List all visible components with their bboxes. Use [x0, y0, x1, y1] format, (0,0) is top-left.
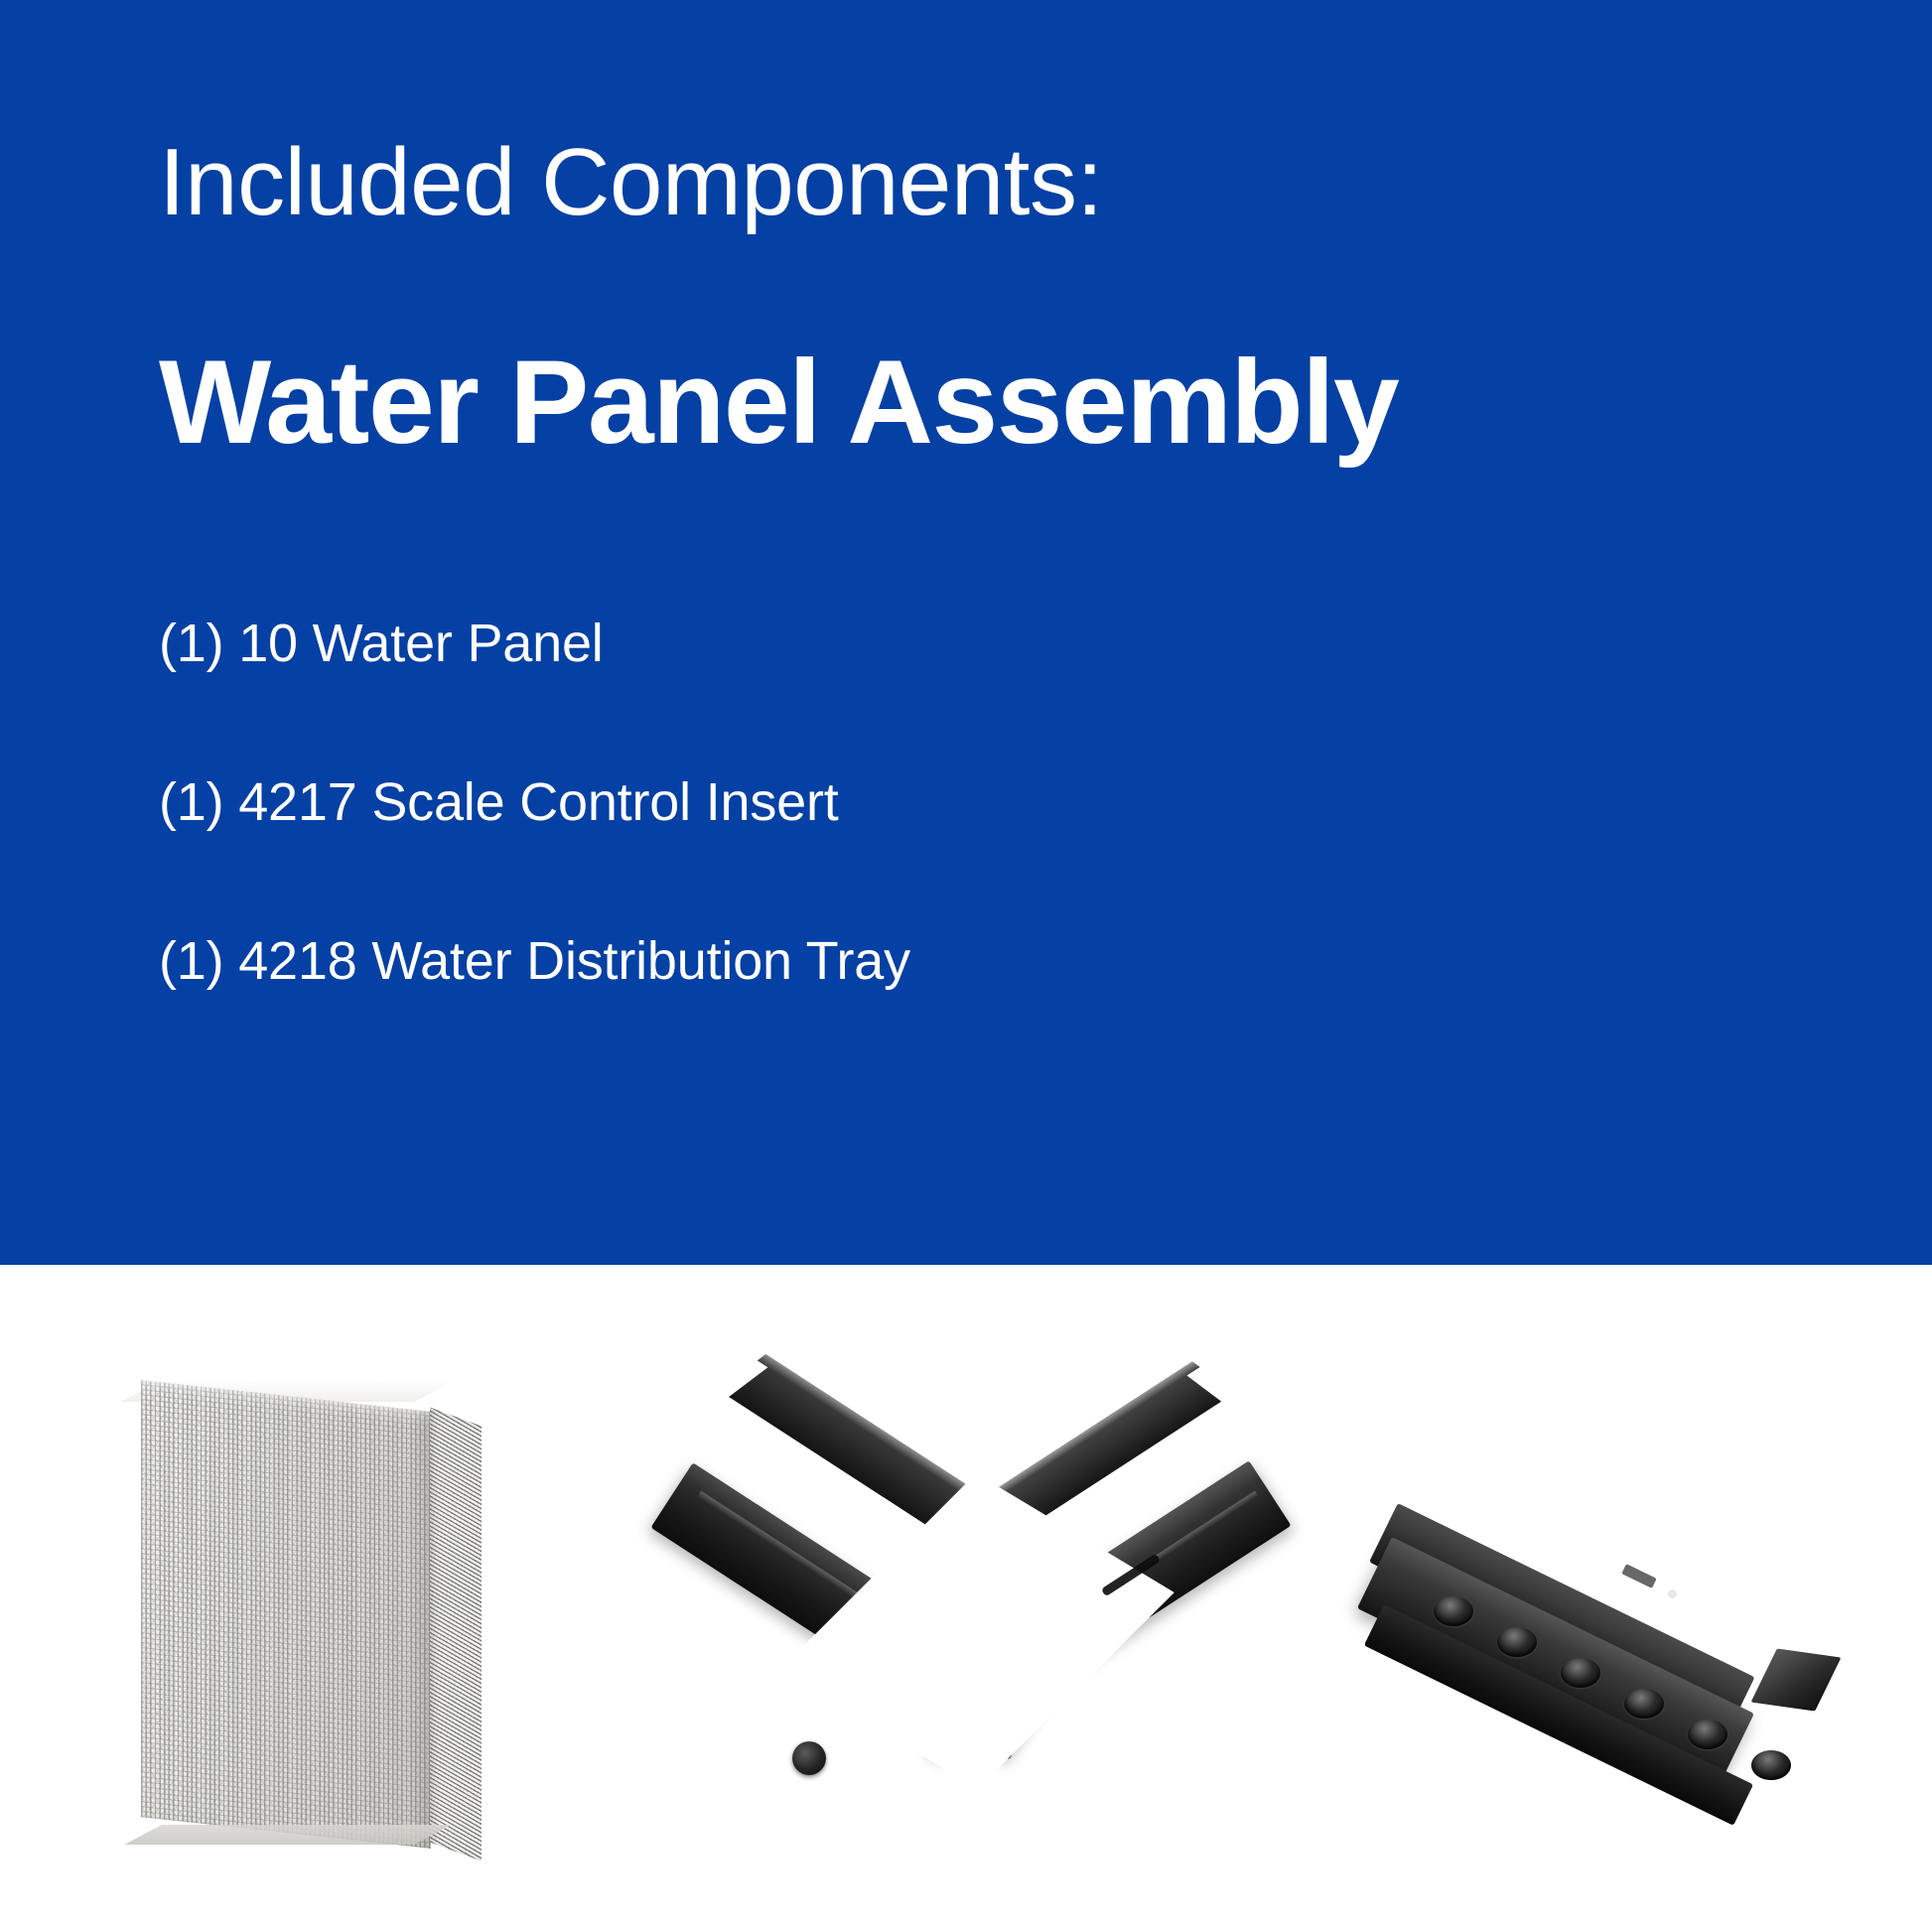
- tray-port-hole: [1561, 1658, 1600, 1688]
- water-panel-mesh-face: [141, 1380, 431, 1849]
- hero-panel: Included Components: Water Panel Assembl…: [0, 0, 1932, 1265]
- list-item: (1) 4218 Water Distribution Tray: [159, 933, 1797, 989]
- water-panel-image: [119, 1386, 516, 1853]
- tray-port-hole: [1688, 1720, 1727, 1749]
- water-panel-side-edge: [430, 1408, 482, 1862]
- list-item: (1) 4217 Scale Control Insert: [159, 774, 1797, 830]
- product-image-strip: [0, 1265, 1932, 1932]
- page-eyebrow: Included Components:: [159, 129, 1103, 236]
- tray-port-hole: [1497, 1627, 1537, 1657]
- insert-inner-opening: [779, 1473, 1174, 1789]
- tray-notch: [1621, 1564, 1656, 1588]
- tray-end-cap: [1751, 1648, 1842, 1711]
- scale-control-insert-image: [643, 1324, 1299, 1880]
- list-item: (1) 10 Water Panel: [159, 616, 1797, 671]
- tray-port-hole: [1624, 1689, 1664, 1719]
- page-title: Water Panel Assembly: [159, 336, 1398, 469]
- tray-port-hole: [1751, 1750, 1791, 1780]
- included-components-list: (1) 10 Water Panel (1) 4217 Scale Contro…: [159, 616, 1797, 1092]
- tray-port-hole: [1434, 1596, 1473, 1626]
- water-panel-bottom-edge: [124, 1825, 452, 1845]
- water-distribution-tray-image: [1388, 1493, 1855, 1821]
- tray-alignment-pin: [1668, 1589, 1677, 1598]
- infographic-page: Included Components: Water Panel Assembl…: [0, 0, 1932, 1932]
- insert-nozzle-fitting: [792, 1741, 826, 1775]
